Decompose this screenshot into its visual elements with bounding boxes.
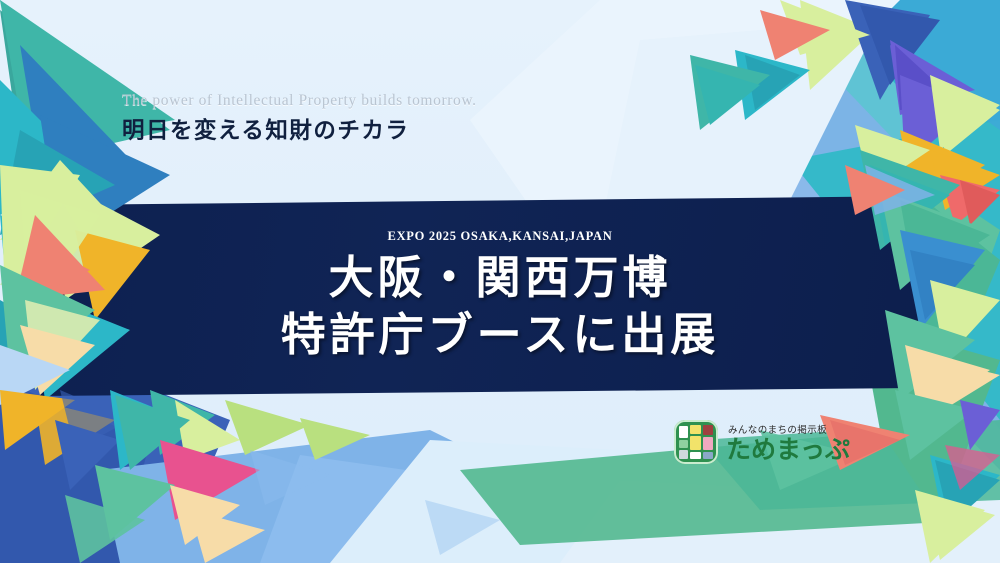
- tamemap-logo[interactable]: みんなのまちの掲示板 ためまっぷ: [674, 420, 850, 464]
- expo-poster: EXPO 2025 OSAKA,KANSAI,JAPAN 大阪・関西万博 特許庁…: [0, 0, 1000, 563]
- logo-tile-0: [679, 426, 688, 438]
- bulletin-board-icon: [674, 420, 718, 464]
- foreground-triangles: [0, 0, 1000, 563]
- tagline-group: The power of Intellectual Property build…: [122, 92, 477, 145]
- tagline-english: The power of Intellectual Property build…: [122, 92, 477, 110]
- logo-tile-3: [679, 440, 688, 448]
- logo-tile-7: [690, 452, 701, 459]
- logo-text-group: みんなのまちの掲示板 ためまっぷ: [726, 422, 850, 462]
- logo-tile-4: [690, 436, 701, 450]
- logo-tile-6: [679, 450, 688, 459]
- logo-tile-1: [690, 425, 701, 434]
- logo-name: ためまっぷ: [726, 437, 850, 462]
- tagline-japanese: 明日を変える知財のチカラ: [122, 113, 477, 145]
- logo-subtitle: みんなのまちの掲示板: [728, 422, 850, 436]
- logo-tile-8: [703, 452, 713, 459]
- logo-tile-5: [703, 437, 713, 450]
- logo-tile-2: [703, 425, 713, 435]
